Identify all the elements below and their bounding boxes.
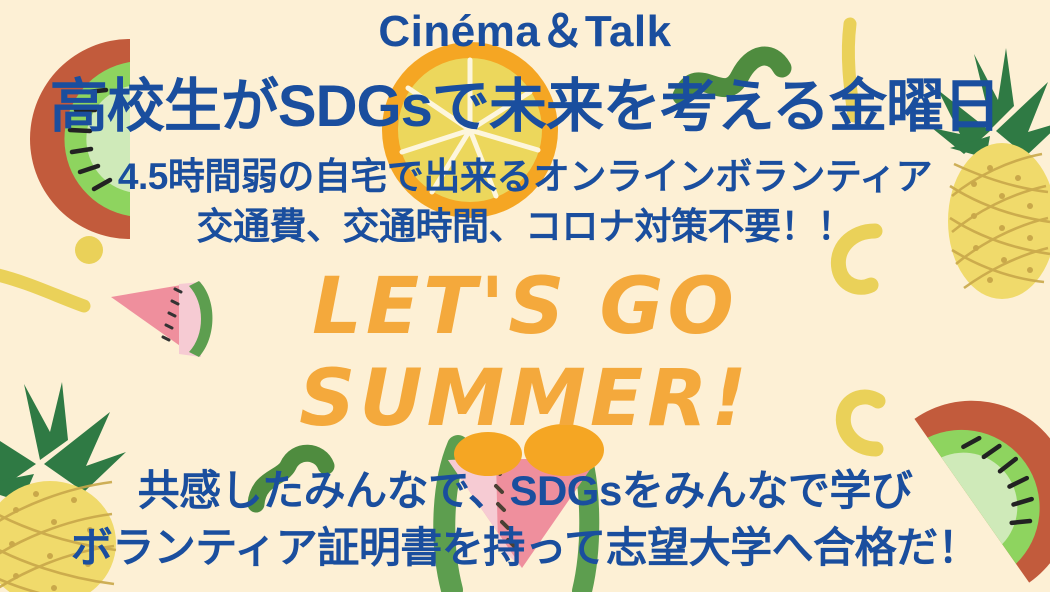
- poster-kicker: Cinéma＆Talk: [0, 10, 1050, 54]
- poster-slogan-line-2: SUMMER!: [0, 360, 1050, 438]
- poster-text-layer: Cinéma＆Talk 高校生がSDGsで未来を考える金曜日 4.5時間弱の自宅…: [0, 0, 1050, 592]
- poster-subtitle-2: 交通費、交通時間、コロナ対策不要！！: [0, 208, 1050, 245]
- poster-slogan-line-1: LET'S GO: [0, 268, 1050, 346]
- poster-footer-line-2: ボランティア証明書を持って志望大学へ合格だ！: [0, 527, 1050, 569]
- poster-footer-line-1: 共感したみんなで、SDGsをみんなで学び: [0, 470, 1050, 512]
- poster-subtitle-1: 4.5時間弱の自宅で出来るオンラインボランティア: [0, 158, 1050, 195]
- poster-headline: 高校生がSDGsで未来を考える金曜日: [0, 78, 1050, 136]
- poster-canvas: Cinéma＆Talk 高校生がSDGsで未来を考える金曜日 4.5時間弱の自宅…: [0, 0, 1050, 592]
